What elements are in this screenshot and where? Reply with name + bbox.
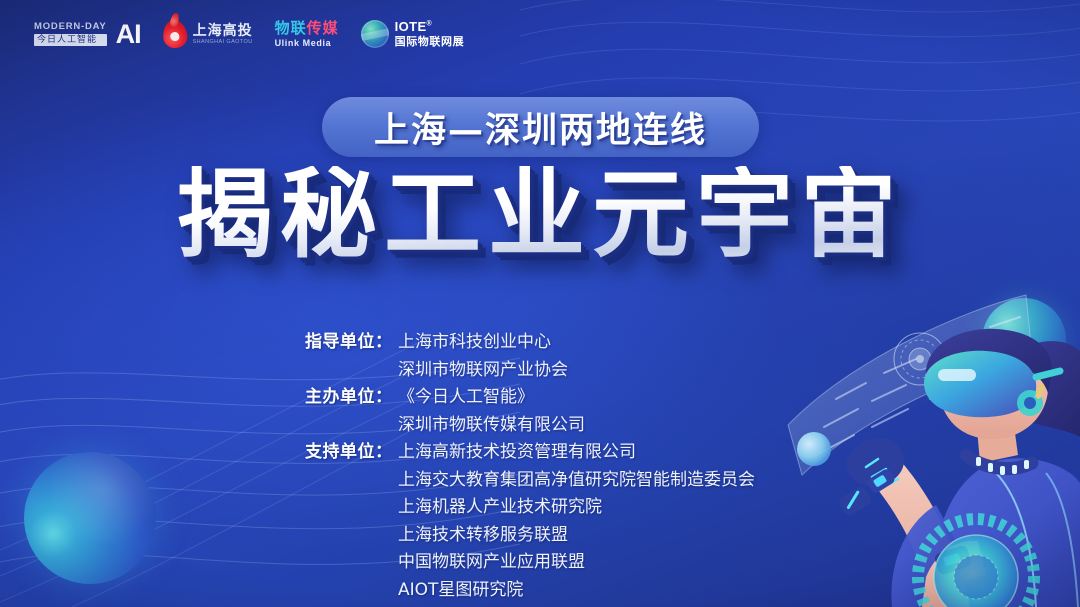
person-torso (930, 458, 1080, 607)
credit-value: 上海交大教育集团高净值研究院智能制造委员会 (398, 467, 755, 495)
credit-group-supporters: 支持单位： 上海高新技术投资管理有限公司 上海交大教育集团高净值研究院智能制造委… (305, 439, 755, 604)
credit-value: 上海高新技术投资管理有限公司 (398, 439, 755, 467)
logo-iote-english: IOTE® (395, 20, 465, 33)
person-raised-arm (837, 438, 970, 607)
credit-value: 《今日人工智能》 (398, 384, 585, 412)
logo-modern-day-ai-chinese: 今日人工智能 (34, 34, 107, 46)
credit-value: AIOT星图研究院 (398, 577, 755, 605)
screen-orb (797, 432, 831, 466)
logo-modern-day-ai-mark: AI (116, 21, 141, 48)
logo-ulink-media-chinese-part1: 物联 (275, 20, 307, 37)
credit-value: 深圳市物联传媒有限公司 (398, 412, 585, 440)
logo-modern-day-ai: MODERN-DAY 今日人工智能 AI (34, 16, 141, 52)
credit-label: 主办单位： (305, 384, 398, 412)
credit-label: 支持单位： (305, 439, 398, 467)
credit-value-list: 上海市科技创业中心 深圳市物联网产业协会 (398, 329, 568, 384)
logo-shanghai-gaotou: 上海高投 SHANGHAI GAOTOU (163, 16, 253, 52)
credits-block: 指导单位： 上海市科技创业中心 深圳市物联网产业协会 主办单位： 《今日人工智能… (305, 329, 755, 604)
vr-glove (846, 438, 904, 487)
logo-ulink-media-chinese-part2: 传媒 (307, 20, 339, 37)
credit-value: 上海市科技创业中心 (398, 329, 568, 357)
logo-iote-chinese: 国际物联网展 (395, 37, 465, 48)
hand-device (922, 541, 986, 607)
logo-shanghai-gaotou-english: SHANGHAI GAOTOU (193, 40, 253, 46)
credit-group-organizer: 主办单位： 《今日人工智能》 深圳市物联传媒有限公司 (305, 384, 755, 439)
logo-ulink-media-chinese: 物联传媒 (275, 21, 339, 36)
credit-value-list: 上海高新技术投资管理有限公司 上海交大教育集团高净值研究院智能制造委员会 上海机… (398, 439, 755, 604)
headphone (1017, 382, 1045, 416)
logo-iote-superscript: ® (427, 21, 433, 28)
globe-icon (361, 20, 389, 48)
decorative-sphere-left (24, 452, 156, 584)
collar (966, 455, 1032, 475)
credit-value-list: 《今日人工智能》 深圳市物联传媒有限公司 (398, 384, 585, 439)
logo-modern-day-ai-english: MODERN-DAY (34, 22, 107, 32)
credit-value: 深圳市物联网产业协会 (398, 357, 568, 385)
decorative-sphere-right (982, 298, 1066, 382)
subtitle-text: 上海—深圳两地连线 (374, 102, 707, 153)
logo-iote: IOTE® 国际物联网展 (361, 16, 465, 52)
poster-canvas: MODERN-DAY 今日人工智能 AI 上海高投 SHANGHAI GAOTO… (0, 0, 1080, 607)
subtitle-banner: 上海—深圳两地连线 (322, 97, 759, 157)
credit-value: 中国物联网产业应用联盟 (398, 549, 755, 577)
credit-group-guidance: 指导单位： 上海市科技创业中心 深圳市物联网产业协会 (305, 329, 755, 384)
credit-label: 指导单位： (305, 329, 398, 357)
hud-dial (894, 333, 946, 385)
logo-shanghai-gaotou-chinese: 上海高投 (193, 23, 253, 37)
logo-ulink-media-english: Ulink Media (275, 39, 339, 48)
credit-value: 上海机器人产业技术研究院 (398, 494, 755, 522)
radial-dial (918, 519, 1034, 607)
logo-bar: MODERN-DAY 今日人工智能 AI 上海高投 SHANGHAI GAOTO… (34, 16, 464, 52)
logo-ulink-media: 物联传媒 Ulink Media (275, 16, 339, 52)
flame-icon (161, 19, 188, 49)
page-title: 揭秘工业元宇宙 (0, 166, 1080, 263)
credit-value: 上海技术转移服务联盟 (398, 522, 755, 550)
